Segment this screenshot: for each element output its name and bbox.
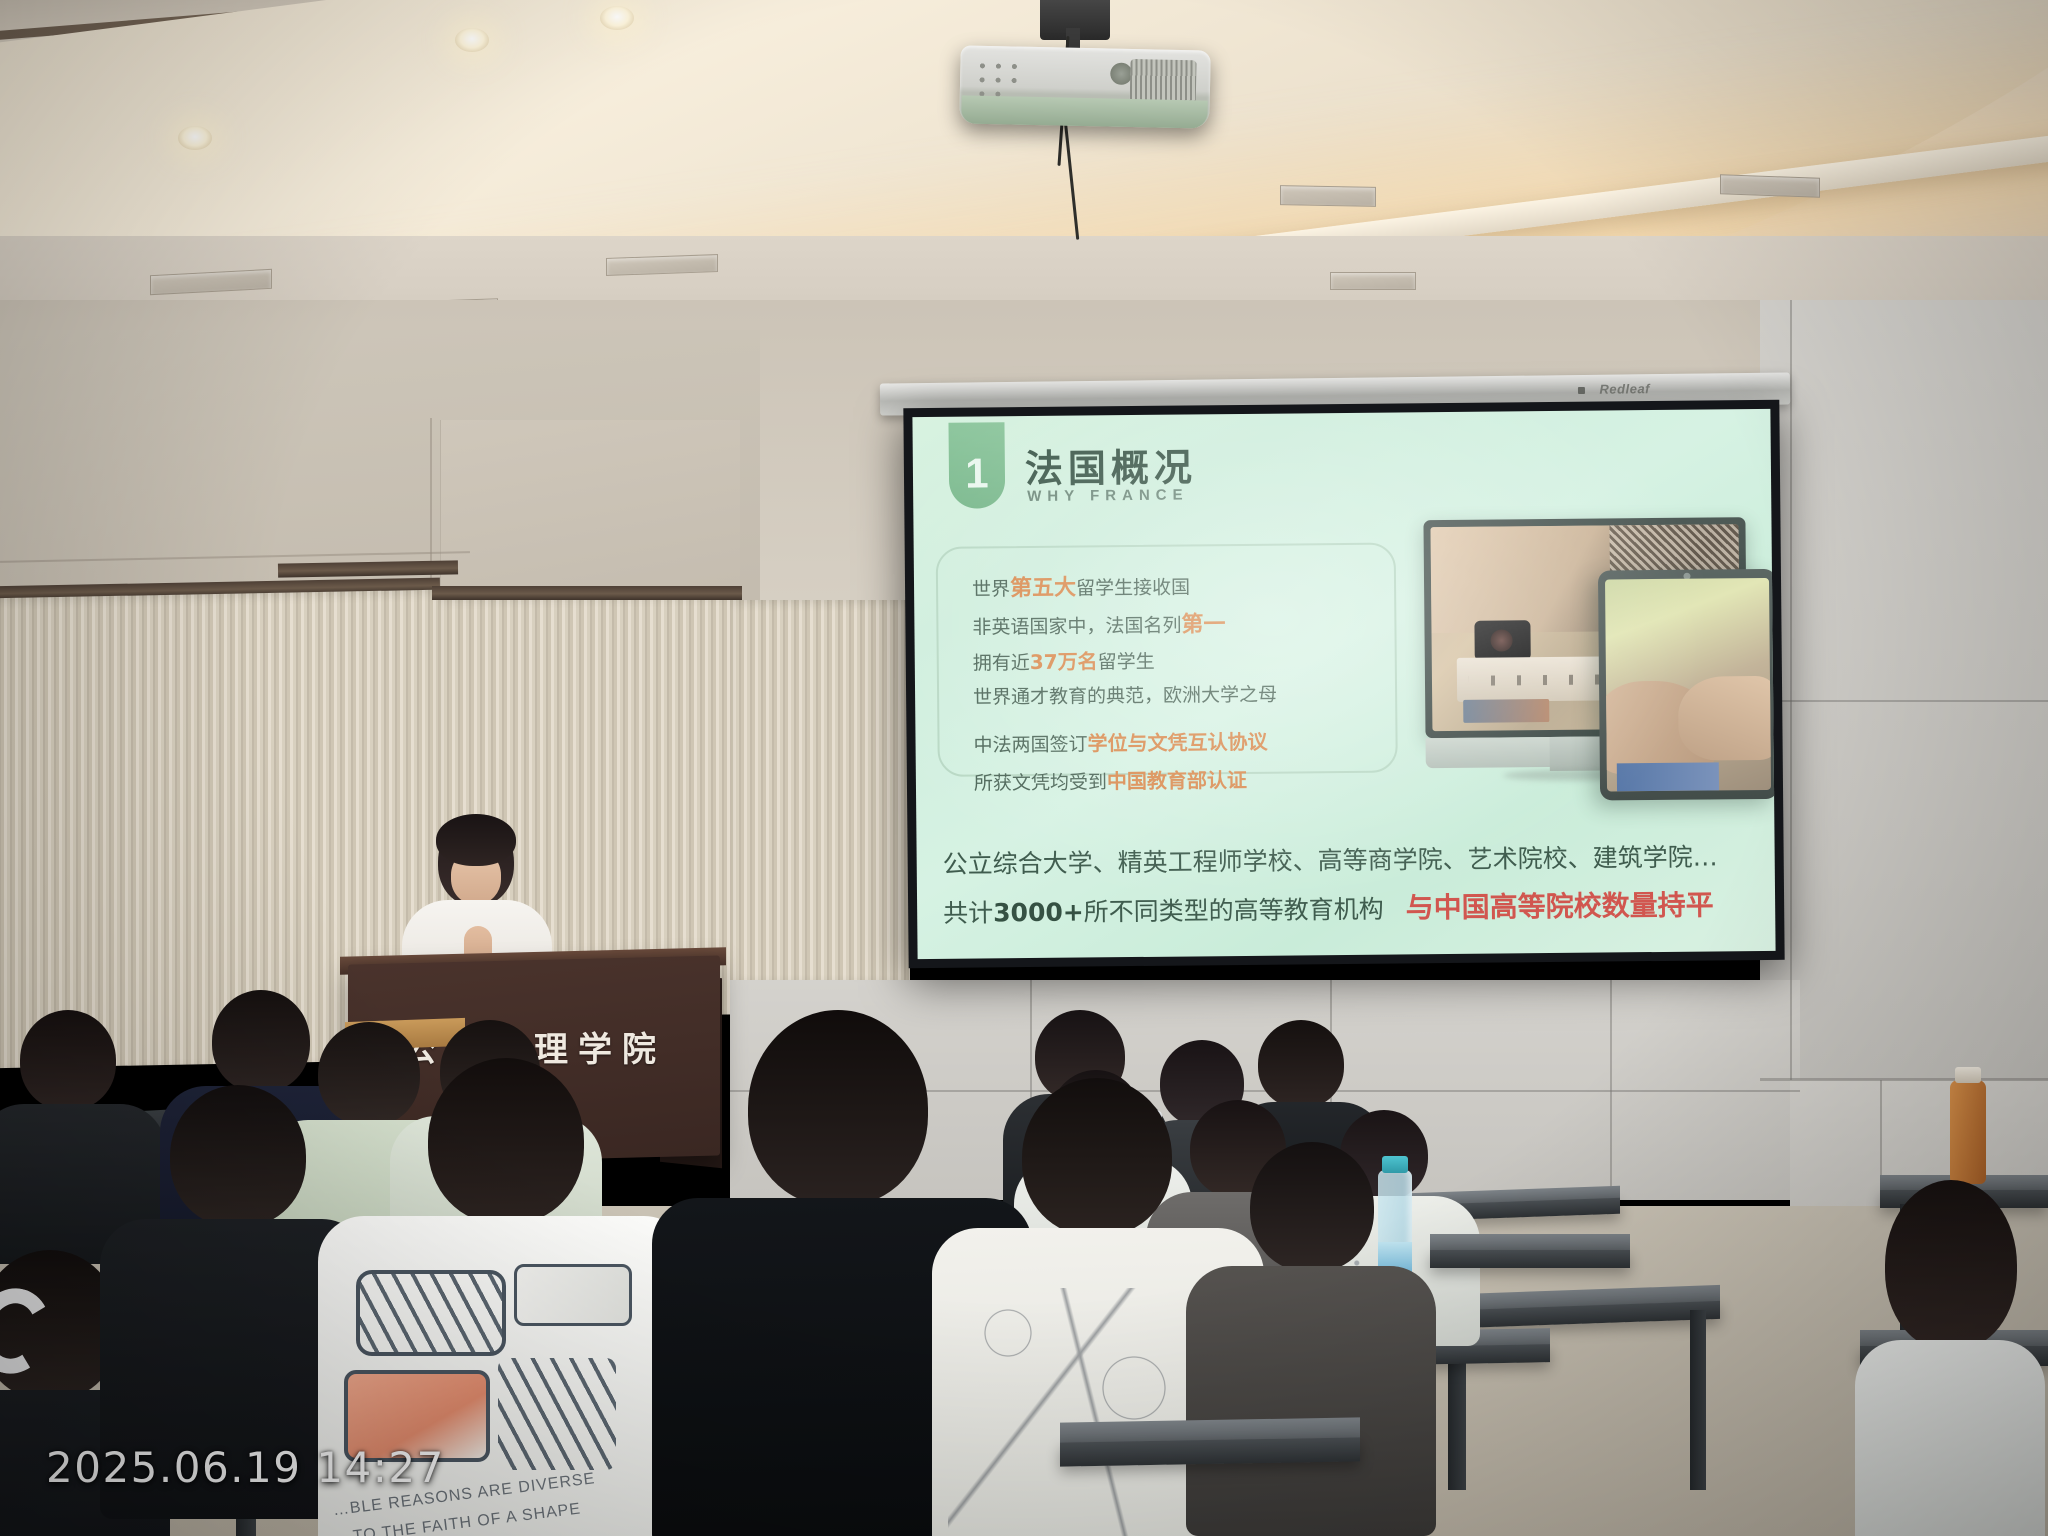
presenter-hair-front — [436, 814, 516, 866]
bullet-line-4: 世界通才教育的典范，欧洲大学之母 — [973, 680, 1277, 710]
ceiling-downlight — [455, 28, 489, 52]
wall-rail — [432, 586, 742, 600]
bottle-cap — [1955, 1067, 1981, 1083]
panel-seam — [1790, 300, 1792, 1080]
tablet-mockup — [1598, 569, 1776, 801]
bullet-highlight: 中国教育部认证 — [1107, 768, 1247, 793]
desk-leg — [1690, 1310, 1706, 1490]
slide-footer-line-1: 公立综合大学、精英工程师学校、高等商学院、艺术院校、建筑学院… — [943, 837, 1718, 880]
presentation-slide: 1 法国概况 WHY FRANCE 世界第五大留学生接收国 非英语国家中，法国名… — [912, 409, 1775, 959]
student-head — [20, 1010, 116, 1110]
slide-number: 1 — [965, 452, 989, 494]
photo-timestamp: 2025.06.19 14:27 — [46, 1443, 445, 1492]
slide-title: 法国概况 — [1025, 436, 1198, 493]
panel-seam — [1760, 700, 2048, 702]
projector-vent-grille — [1130, 59, 1197, 104]
bullet-highlight: 第五大 — [1010, 576, 1076, 602]
brown-drink-bottle — [1950, 1080, 1986, 1184]
tablet-screen-image — [1605, 578, 1771, 792]
student-head — [748, 1010, 928, 1206]
bullet-line-6: 所获文凭均受到中国教育部认证 — [974, 764, 1247, 796]
bullet-highlight: 学位与文凭互认协议 — [1087, 730, 1267, 756]
bullet-text: 留学生 — [1098, 651, 1155, 674]
ceiling-vent — [1720, 174, 1820, 197]
student-head — [170, 1085, 306, 1227]
bullet-text: 留学生接收国 — [1076, 576, 1190, 599]
bullet-line-2: 非英语国家中，法国名列第一 — [972, 606, 1225, 640]
bullet-text: 所获文凭均受到 — [974, 771, 1107, 794]
slide-footer-line-2: 共计3000+所不同类型的高等教育机构与中国高等院校数量持平 — [943, 883, 1714, 930]
bullet-text: 非英语国家中，法国名列 — [972, 615, 1181, 639]
ceiling-downlight — [600, 6, 634, 30]
desk — [1430, 1250, 1630, 1268]
tee-graphic-panel — [356, 1270, 506, 1356]
ceiling-projector — [959, 45, 1211, 128]
bullet-highlight: 37万名 — [1030, 649, 1098, 674]
housing-indicator-dot — [1578, 387, 1585, 394]
student-torso — [1855, 1340, 2045, 1536]
student-head — [1250, 1142, 1374, 1272]
bullet-line-3: 拥有近37万名留学生 — [973, 645, 1155, 676]
footer-text: 共计 — [943, 898, 993, 927]
bullet-line-1: 世界第五大留学生接收国 — [972, 568, 1190, 602]
photo-print-in-photo — [1463, 699, 1549, 722]
student-head — [1258, 1020, 1344, 1108]
tee-graphic-panel — [498, 1358, 616, 1470]
slide-subtitle: WHY FRANCE — [1027, 486, 1189, 505]
ceiling-vent — [1280, 185, 1376, 207]
student-head — [1885, 1180, 2017, 1350]
student-head — [212, 990, 310, 1092]
footer-highlight: 与中国高等院校数量持平 — [1406, 888, 1714, 924]
projector-lower-shell — [961, 95, 1208, 128]
bullet-text: 中法两国签订 — [973, 733, 1087, 756]
bullet-highlight: 第一 — [1181, 612, 1225, 637]
fluted-acoustic-panel — [730, 600, 910, 980]
ceiling-downlight — [178, 126, 212, 150]
camera-in-photo-icon — [1475, 620, 1531, 661]
projection-screen: 1 法国概况 WHY FRANCE 世界第五大留学生接收国 非英语国家中，法国名… — [903, 400, 1784, 968]
tee-graphic-panel — [514, 1264, 632, 1326]
footer-text: 所不同类型的高等教育机构 — [1084, 895, 1384, 927]
lecture-hall-photo: Redleaf 1 法国概况 WHY FRANCE 世界第五大留学生接收国 非英… — [0, 0, 2048, 1536]
student-torso — [1186, 1266, 1436, 1536]
bullet-text: 拥有近 — [973, 652, 1030, 675]
panel-seam — [1760, 1078, 2048, 1081]
student-head — [428, 1058, 584, 1224]
bottle-cap — [1382, 1156, 1408, 1173]
slide-number-badge: 1 — [948, 422, 1005, 509]
ceiling-vent — [1330, 272, 1416, 290]
blue-sleeve-in-photo — [1617, 763, 1719, 792]
screen-brand-label: Redleaf — [1599, 381, 1650, 397]
footer-number: 3000+ — [993, 898, 1084, 928]
student-head — [318, 1022, 420, 1126]
slide-bullet-box: 世界第五大留学生接收国 非英语国家中，法国名列第一 拥有近37万名留学生 世界通… — [936, 542, 1398, 776]
projector-control-panel — [974, 58, 1021, 99]
bullet-text: 世界 — [972, 578, 1010, 600]
student-head — [1022, 1078, 1172, 1236]
hand-in-photo — [1678, 675, 1771, 761]
bullet-line-5: 中法两国签订学位与文凭互认协议 — [973, 726, 1267, 758]
side-wall-panels — [1760, 300, 2048, 1080]
